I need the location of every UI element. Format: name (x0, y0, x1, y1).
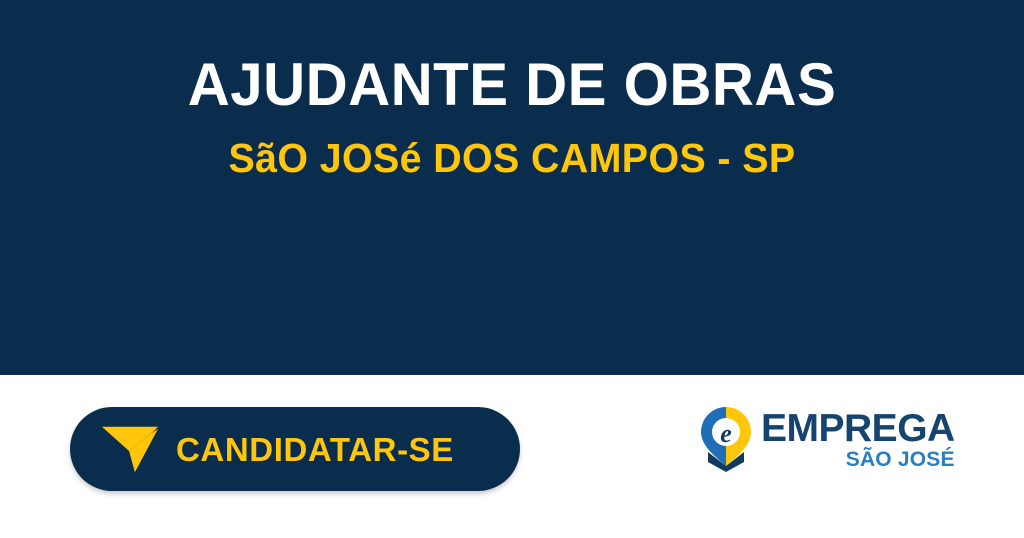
brand-name: EMPREGA (761, 410, 955, 447)
page-title: AJUDANTE DE OBRAS (15, 54, 1008, 115)
job-vacancy-poster: AJUDANTE DE OBRAS SãO JOSé DOS CAMPOS - … (0, 0, 1024, 538)
apply-button[interactable]: CANDIDATAR-SE (70, 407, 520, 491)
svg-text:e: e (720, 419, 732, 448)
send-paper-plane-icon (100, 418, 162, 480)
footer-bar: CANDIDATAR-SE (0, 375, 1024, 538)
hero-banner: AJUDANTE DE OBRAS SãO JOSé DOS CAMPOS - … (0, 0, 1024, 375)
map-pin-e-icon: e (697, 406, 755, 472)
apply-button-label: CANDIDATAR-SE (176, 433, 454, 466)
job-location-subtitle: SãO JOSé DOS CAMPOS - SP (20, 115, 1003, 180)
brand-subtitle: SÃO JOSÉ (761, 447, 955, 470)
brand-wordmark: EMPREGA SÃO JOSÉ (761, 408, 955, 470)
hero-text-block: AJUDANTE DE OBRAS SãO JOSé DOS CAMPOS - … (0, 0, 1024, 180)
brand-logo[interactable]: e EMPREGA SÃO JOSÉ (697, 403, 922, 475)
